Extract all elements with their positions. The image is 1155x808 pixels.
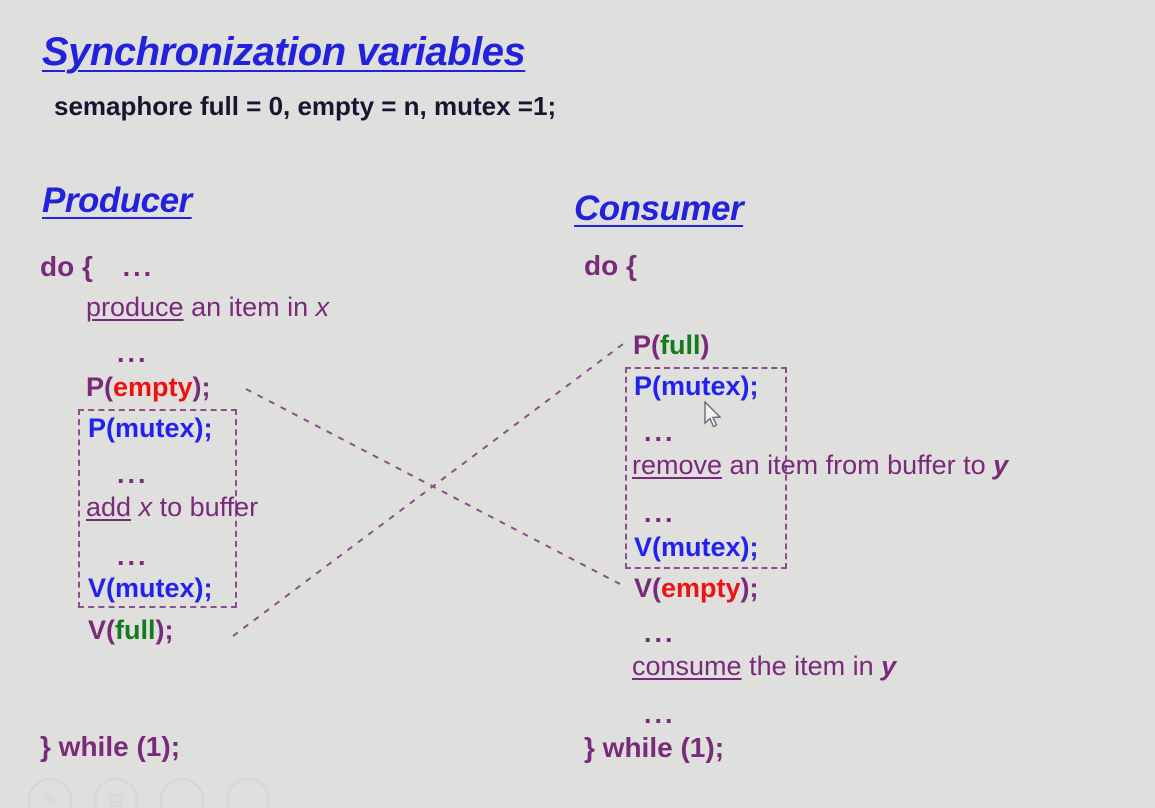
v-call-suffix: );	[156, 615, 174, 645]
remove-verb: remove	[632, 450, 722, 480]
more-icon[interactable]: ⋯	[226, 778, 270, 808]
producer-do-keyword: do {	[40, 251, 93, 282]
pen-icon[interactable]: ✎	[28, 778, 72, 808]
p-mutex-call: P(mutex);	[634, 371, 759, 401]
mouse-cursor	[703, 401, 725, 431]
remove-variable: y	[993, 450, 1008, 480]
slide-canvas: Synchronization variables semaphore full…	[0, 0, 1155, 808]
semaphore-full: full	[115, 615, 156, 645]
annotation-toolbar[interactable]: ✎ ▧ ○ ⋯	[28, 778, 270, 808]
producer-dots-1: ...	[117, 340, 149, 367]
producer-heading: Producer	[42, 183, 192, 218]
v-mutex-call: V(mutex);	[634, 532, 759, 562]
semaphore-declaration: semaphore full = 0, empty = n, mutex =1;	[54, 93, 556, 119]
consumer-while-line: } while (1);	[584, 734, 724, 762]
semaphore-full: full	[660, 330, 701, 360]
consumer-dots-4: ...	[644, 701, 676, 728]
connector-v-full-to-p-full	[233, 344, 623, 636]
eraser-icon[interactable]: ▧	[94, 778, 138, 808]
producer-while-line: } while (1);	[40, 733, 180, 761]
p-call-prefix: P(	[633, 330, 660, 360]
connector-p-empty-to-v-empty	[246, 389, 620, 584]
produce-variable: x	[316, 292, 330, 322]
producer-p-mutex-line: P(mutex);	[88, 415, 213, 442]
consumer-consume-line: consume the item in y	[632, 653, 896, 680]
producer-dots-2: ...	[117, 461, 149, 488]
p-call-suffix: )	[701, 330, 710, 360]
consumer-remove-line: remove an item from buffer to y	[632, 452, 1008, 479]
consume-verb: consume	[632, 651, 742, 681]
consumer-dots-1: ...	[644, 419, 676, 446]
remove-text: an item from buffer to	[730, 450, 994, 480]
consumer-p-full-line: P(full)	[633, 332, 710, 359]
producer-do-dots: ...	[123, 252, 155, 282]
add-variable: x	[139, 492, 153, 522]
consume-variable: y	[881, 651, 896, 681]
semaphore-empty: empty	[113, 372, 193, 402]
cursor-arrow-icon	[705, 402, 720, 427]
producer-do-line: do { ...	[40, 253, 154, 281]
shape-icon[interactable]: ○	[160, 778, 204, 808]
consumer-dots-2: ...	[644, 500, 676, 527]
page-title: Synchronization variables	[42, 32, 525, 72]
add-text: to buffer	[152, 492, 258, 522]
v-call-suffix: );	[741, 573, 759, 603]
producer-v-full-line: V(full);	[88, 617, 173, 644]
v-call-prefix: V(	[634, 573, 661, 603]
p-call-prefix: P(	[86, 372, 113, 402]
producer-p-empty-line: P(empty);	[86, 374, 211, 401]
produce-verb: produce	[86, 292, 184, 322]
producer-add-line: add x to buffer	[86, 494, 258, 521]
add-verb: add	[86, 492, 131, 522]
v-mutex-call: V(mutex);	[88, 573, 213, 603]
semaphore-empty: empty	[661, 573, 741, 603]
consumer-heading: Consumer	[574, 191, 743, 226]
p-mutex-call: P(mutex);	[88, 413, 213, 443]
consumer-v-mutex-line: V(mutex);	[634, 534, 759, 561]
v-call-prefix: V(	[88, 615, 115, 645]
consumer-v-empty-line: V(empty);	[634, 575, 759, 602]
consumer-do-keyword: do {	[584, 252, 637, 280]
produce-text: an item in	[191, 292, 316, 322]
producer-dots-3: ...	[117, 543, 149, 570]
consumer-p-mutex-line: P(mutex);	[634, 373, 759, 400]
p-call-suffix: );	[193, 372, 211, 402]
consume-text: the item in	[749, 651, 881, 681]
producer-produce-line: produce an item in x	[86, 294, 329, 321]
connector-lines	[0, 0, 1155, 808]
producer-v-mutex-line: V(mutex);	[88, 575, 213, 602]
consumer-dots-3: ...	[644, 620, 676, 647]
